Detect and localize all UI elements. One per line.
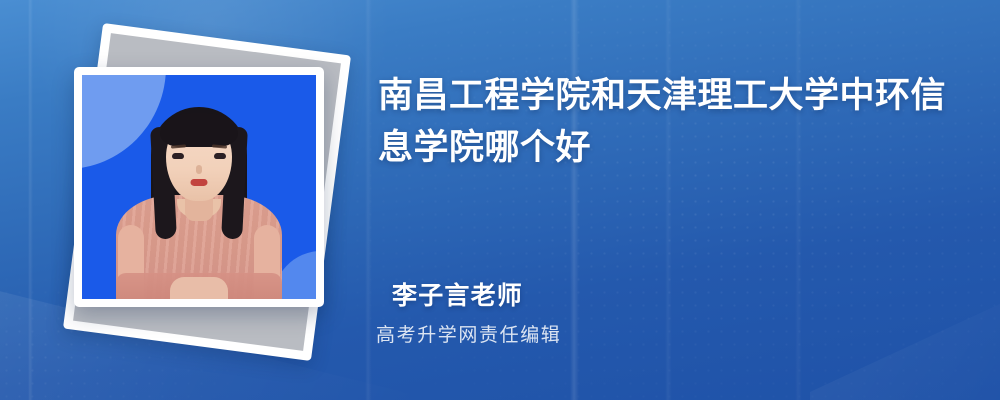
author-portrait: [111, 101, 287, 299]
portrait-lips: [191, 179, 208, 186]
portrait-fringe: [160, 113, 238, 147]
portrait-eye-right: [214, 153, 226, 159]
photo-card-stack: [44, 30, 364, 360]
portrait-hands: [170, 277, 228, 299]
portrait-eye-left: [172, 153, 184, 159]
banner-text-column: 南昌工程学院和天津理工大学中环信息学院哪个好 李子言老师 高考升学网责任编辑: [376, 0, 976, 400]
photo-card-front: [74, 67, 324, 307]
page-title: 南昌工程学院和天津理工大学中环信息学院哪个好: [378, 70, 966, 174]
author-name: 李子言老师: [392, 276, 523, 312]
author-role: 高考升学网责任编辑: [376, 320, 561, 347]
portrait-nose: [196, 165, 202, 174]
article-header-banner: 南昌工程学院和天津理工大学中环信息学院哪个好 李子言老师 高考升学网责任编辑: [0, 0, 1000, 400]
